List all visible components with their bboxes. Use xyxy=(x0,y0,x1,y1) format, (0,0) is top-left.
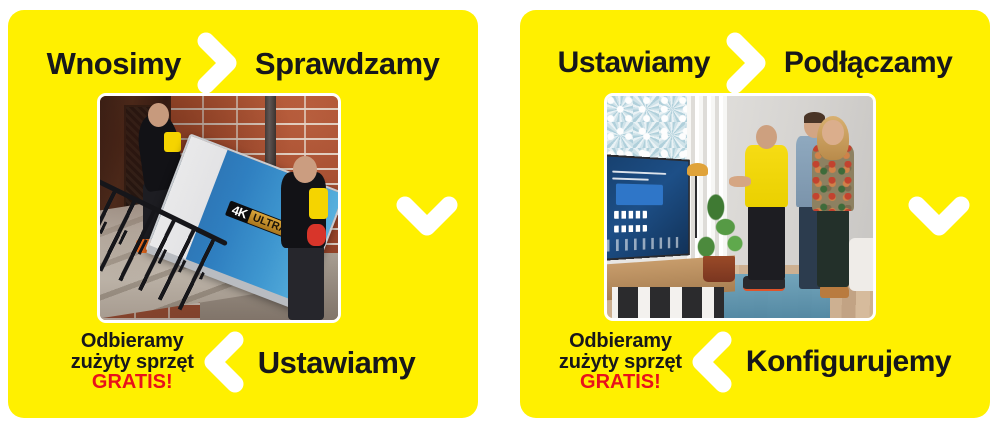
recycle-line-1: Odbieramy xyxy=(559,331,682,352)
service-steps-banner: Wnosimy Sprawdzamy xyxy=(0,0,1000,429)
step-label-wnosimy: Wnosimy xyxy=(47,48,181,79)
installation-bottom-steps: Odbieramy zużyty sprzęt GRATIS! Konfigur… xyxy=(520,320,990,404)
chevron-right-icon xyxy=(195,32,241,94)
recycle-offer: Odbieramy zużyty sprzęt GRATIS! xyxy=(559,331,682,393)
step-label-sprawdzamy: Sprawdzamy xyxy=(255,48,440,79)
chevron-left-icon xyxy=(690,331,736,393)
recycle-line-2: zużyty sprzęt xyxy=(71,352,194,373)
step-label-konfigurujemy: Konfigurujemy xyxy=(746,347,951,377)
recycle-offer: Odbieramy zużyty sprzęt GRATIS! xyxy=(71,331,194,393)
delivery-photo-wrap: 4K ULTRA HD xyxy=(8,93,478,323)
recycle-line-1: Odbieramy xyxy=(71,331,194,352)
recycle-free-badge: GRATIS! xyxy=(559,372,682,393)
panel-delivery: Wnosimy Sprawdzamy xyxy=(8,10,478,418)
step-label-podlaczamy: Podłączamy xyxy=(784,48,952,78)
chevron-right-icon xyxy=(724,32,770,94)
installation-top-steps: Ustawiamy Podłączamy xyxy=(520,32,990,94)
recycle-free-badge: GRATIS! xyxy=(71,372,194,393)
step-label-ustawiamy-top: Ustawiamy xyxy=(558,48,710,78)
photo-installer-configuring-tv-with-couple xyxy=(604,93,876,321)
chevron-left-icon xyxy=(202,331,248,393)
photo-carrying-tv-upstairs: 4K ULTRA HD xyxy=(97,93,341,323)
delivery-bottom-steps: Odbieramy zużyty sprzęt GRATIS! Ustawiam… xyxy=(8,320,478,404)
installation-photo-wrap xyxy=(520,93,990,321)
recycle-line-2: zużyty sprzęt xyxy=(559,352,682,373)
step-label-ustawiamy: Ustawiamy xyxy=(258,347,415,378)
tv-setup-screen xyxy=(604,154,690,261)
panel-installation: Ustawiamy Podłączamy xyxy=(520,10,990,418)
delivery-top-steps: Wnosimy Sprawdzamy xyxy=(8,32,478,94)
